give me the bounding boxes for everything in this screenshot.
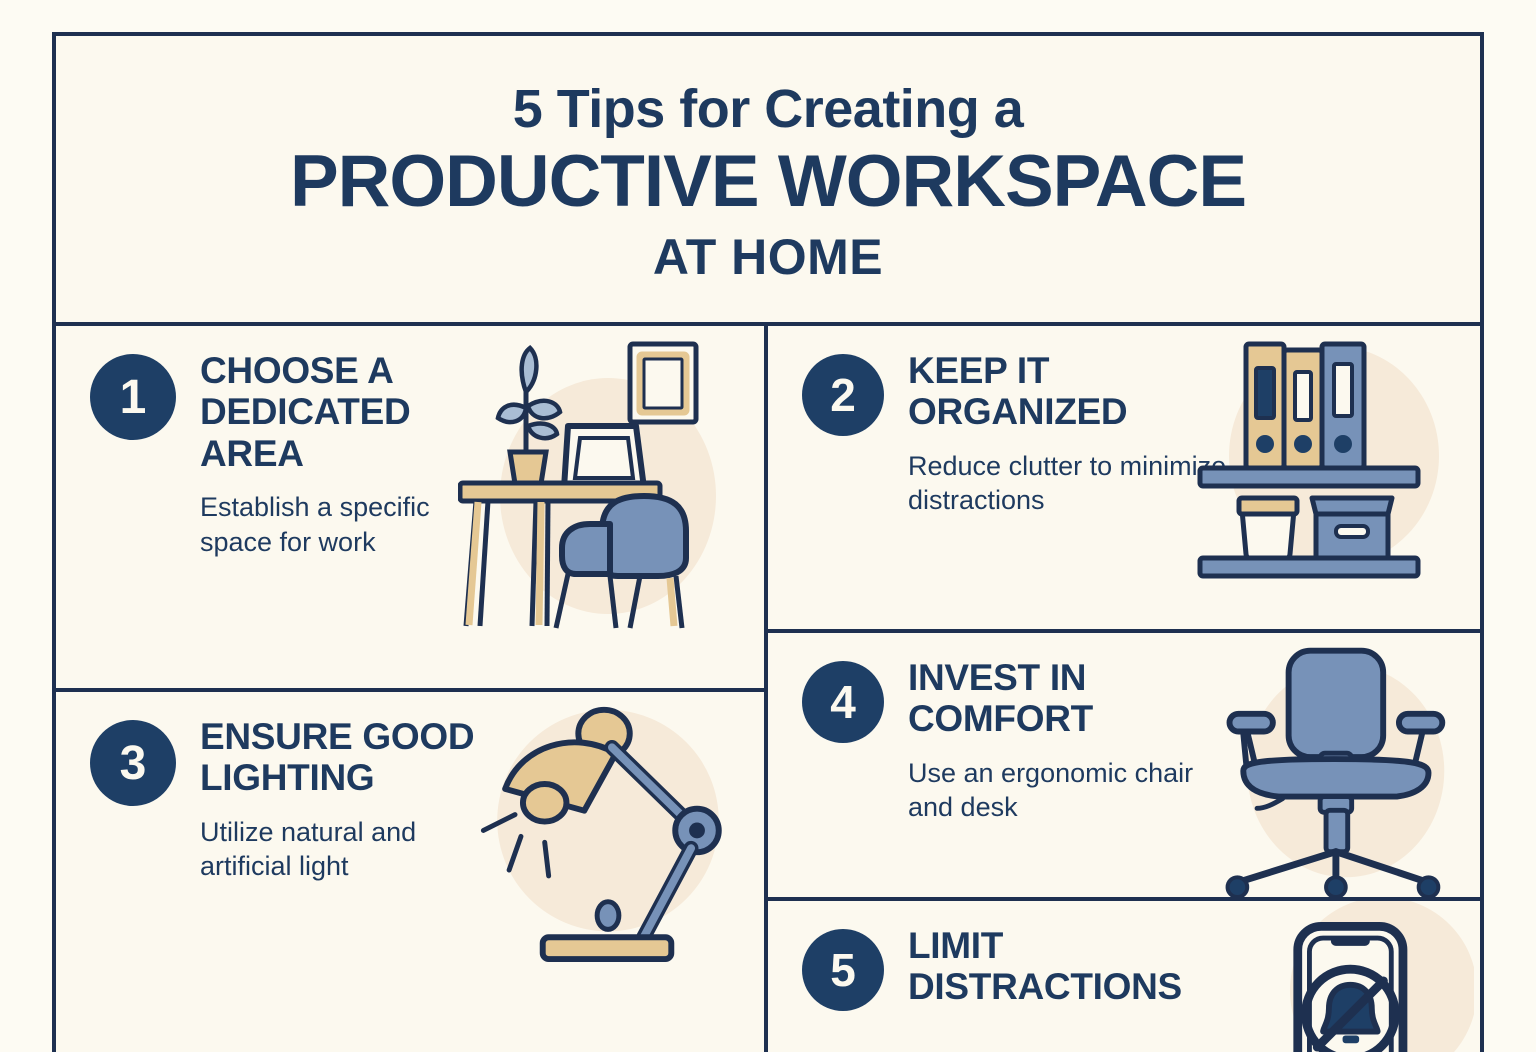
- tip-title-1: CHOOSE A DEDICATED AREA: [200, 350, 500, 474]
- tip-card-5: 5 LIMIT DISTRACTIONS: [768, 897, 1480, 1052]
- tip-number-badge-1: 1: [90, 354, 176, 440]
- tip-card-3: 3 ENSURE GOOD LIGHTING Utilize natural a…: [56, 688, 764, 1052]
- tip-card-4: 4 INVEST IN COMFORT Use an ergonomic cha…: [768, 629, 1480, 897]
- desk-lamp-icon: [458, 692, 758, 1052]
- tip-text-4: INVEST IN COMFORT Use an ergonomic chair…: [908, 655, 1238, 825]
- tip-description-1: Establish a specific space for work: [200, 490, 500, 559]
- title-line-3: AT HOME: [653, 230, 883, 285]
- tip-title-2: KEEP IT ORGANIZED: [908, 350, 1238, 433]
- tip-text-2: KEEP IT ORGANIZED Reduce clutter to mini…: [908, 348, 1238, 518]
- desk-workspace-icon: [458, 326, 758, 688]
- tip-number-badge-5: 5: [802, 929, 884, 1011]
- tip-title-5: LIMIT DISTRACTIONS: [908, 925, 1238, 1008]
- tip-number-badge-3: 3: [90, 720, 176, 806]
- left-column: 1 CHOOSE A DEDICATED AREA Establish a sp…: [56, 326, 768, 1052]
- poster-header: 5 Tips for Creating a PRODUCTIVE WORKSPA…: [56, 36, 1480, 326]
- title-line-1: 5 Tips for Creating a: [513, 81, 1024, 138]
- tip-text-3: ENSURE GOOD LIGHTING Utilize natural and…: [200, 714, 500, 884]
- tip-title-3: ENSURE GOOD LIGHTING: [200, 716, 500, 799]
- tip-number-badge-2: 2: [802, 354, 884, 436]
- infographic-poster: 5 Tips for Creating a PRODUCTIVE WORKSPA…: [52, 32, 1484, 1052]
- tips-grid: 1 CHOOSE A DEDICATED AREA Establish a sp…: [56, 326, 1480, 1052]
- tip-text-5: LIMIT DISTRACTIONS: [908, 923, 1238, 1024]
- tip-text-1: CHOOSE A DEDICATED AREA Establish a spec…: [200, 348, 500, 559]
- tip-description-4: Use an ergonomic chair and desk: [908, 756, 1238, 825]
- phone-notifications-off-icon: [1254, 901, 1474, 1052]
- tip-card-2: 2 KEEP IT ORGANIZED Reduce clutter to mi…: [768, 326, 1480, 629]
- tip-card-1: 1 CHOOSE A DEDICATED AREA Establish a sp…: [56, 326, 764, 688]
- right-column: 2 KEEP IT ORGANIZED Reduce clutter to mi…: [768, 326, 1480, 1052]
- tip-description-3: Utilize natural and artificial light: [200, 815, 500, 884]
- tip-number-badge-4: 4: [802, 661, 884, 743]
- title-line-2: PRODUCTIVE WORKSPACE: [290, 143, 1246, 222]
- tip-description-2: Reduce clutter to minimize distractions: [908, 449, 1238, 518]
- tip-title-4: INVEST IN COMFORT: [908, 657, 1238, 740]
